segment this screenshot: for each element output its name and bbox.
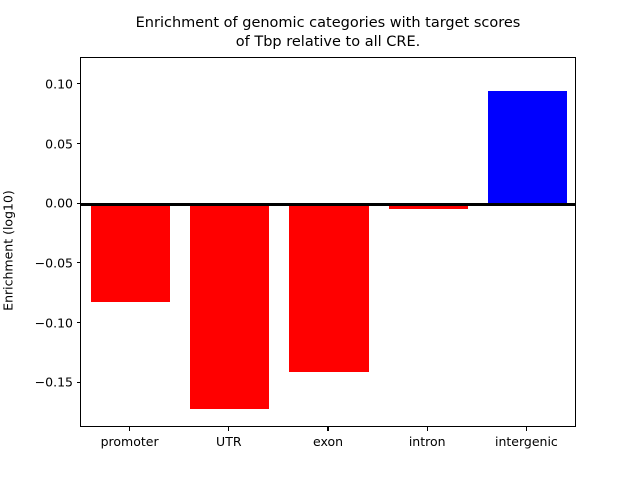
x-tick-label-UTR: UTR [216,434,241,449]
zero-baseline [81,203,575,206]
chart-title: Enrichment of genomic categories with ta… [80,14,576,53]
x-tick-label-exon: exon [313,434,343,449]
bar-exon [289,204,368,372]
plot-inner [81,58,575,426]
y-tick-label: −0.10 [35,315,73,330]
x-tick-label-intergenic: intergenic [495,434,558,449]
x-tick-label-intron: intron [409,434,446,449]
x-tick-label-promoter: promoter [101,434,159,449]
x-tick-mark [129,427,130,431]
y-tick-label: 0.00 [45,196,73,211]
bar-intergenic [488,91,567,204]
x-tick-mark [327,427,328,431]
chart-figure: Enrichment of genomic categories with ta… [0,0,640,480]
y-tick-label: 0.05 [45,136,73,151]
x-tick-mark [228,427,229,431]
plot-area [80,57,576,427]
y-tick-label: 0.10 [45,76,73,91]
x-tick-mark [526,427,527,431]
x-tick-mark [427,427,428,431]
bar-UTR [190,204,269,409]
y-axis-label: Enrichment (log10) [1,66,18,436]
y-tick-label: −0.05 [35,255,73,270]
bar-promoter [91,204,170,302]
y-tick-label: −0.15 [35,375,73,390]
